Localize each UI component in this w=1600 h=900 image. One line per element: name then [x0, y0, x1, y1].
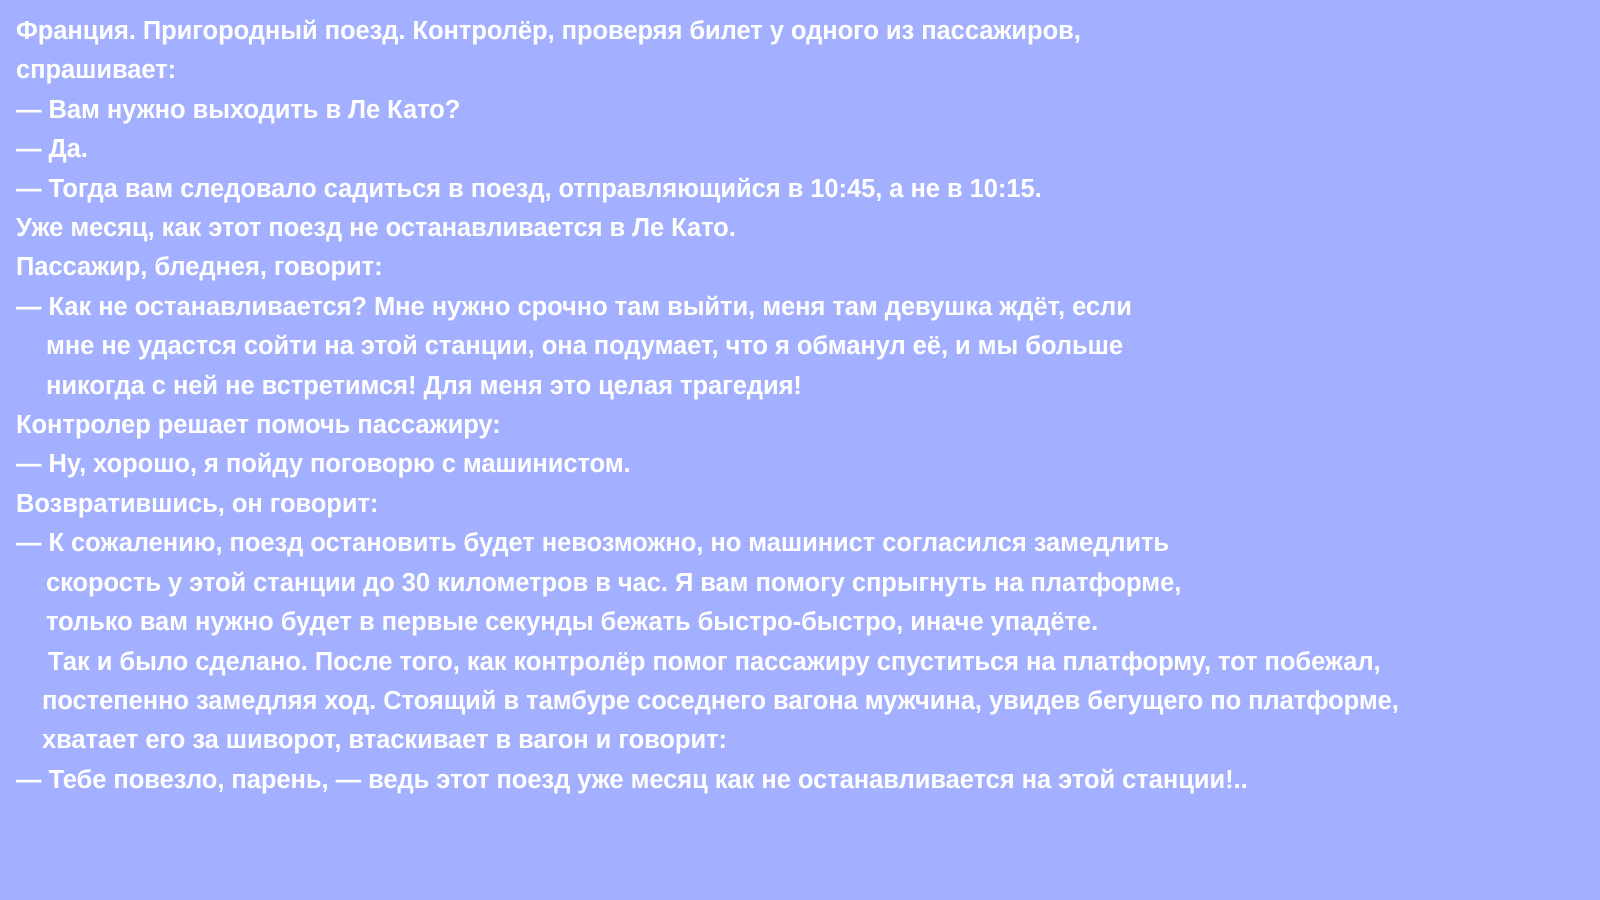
joke-line: — Тебе повезло, парень, — ведь этот поез…: [16, 761, 1600, 800]
joke-line: Контролер решает помочь пассажиру:: [16, 406, 1600, 445]
joke-line: хватает его за шиворот, втаскивает в ваг…: [16, 721, 1600, 760]
joke-line: постепенно замедляя ход. Стоящий в тамбу…: [16, 682, 1600, 721]
joke-line: скорость у этой станции до 30 километров…: [16, 564, 1600, 603]
joke-line: — Да.: [16, 130, 1600, 169]
joke-line: никогда с ней не встретимся! Для меня эт…: [16, 367, 1600, 406]
joke-line: — Как не останавливается? Мне нужно сроч…: [16, 288, 1600, 327]
joke-line: — Вам нужно выходить в Ле Като?: [16, 91, 1600, 130]
joke-line: Так и было сделано. После того, как конт…: [16, 643, 1600, 682]
joke-line: только вам нужно будет в первые секунды …: [16, 603, 1600, 642]
joke-line: — Ну, хорошо, я пойду поговорю с машинис…: [16, 445, 1600, 484]
joke-page: Франция. Пригородный поезд. Контролёр, п…: [0, 0, 1600, 900]
joke-line: Уже месяц, как этот поезд не останавлива…: [16, 209, 1600, 248]
joke-line: — Тогда вам следовало садиться в поезд, …: [16, 170, 1600, 209]
joke-text-block: Франция. Пригородный поезд. Контролёр, п…: [0, 12, 1600, 800]
joke-line: спрашивает:: [16, 51, 1600, 90]
joke-line: Пассажир, бледнея, говорит:: [16, 248, 1600, 287]
joke-line: Возвратившись, он говорит:: [16, 485, 1600, 524]
joke-line: Франция. Пригородный поезд. Контролёр, п…: [16, 12, 1600, 51]
joke-line: — К сожалению, поезд остановить будет не…: [16, 524, 1600, 563]
joke-line: мне не удастся сойти на этой станции, он…: [16, 327, 1600, 366]
